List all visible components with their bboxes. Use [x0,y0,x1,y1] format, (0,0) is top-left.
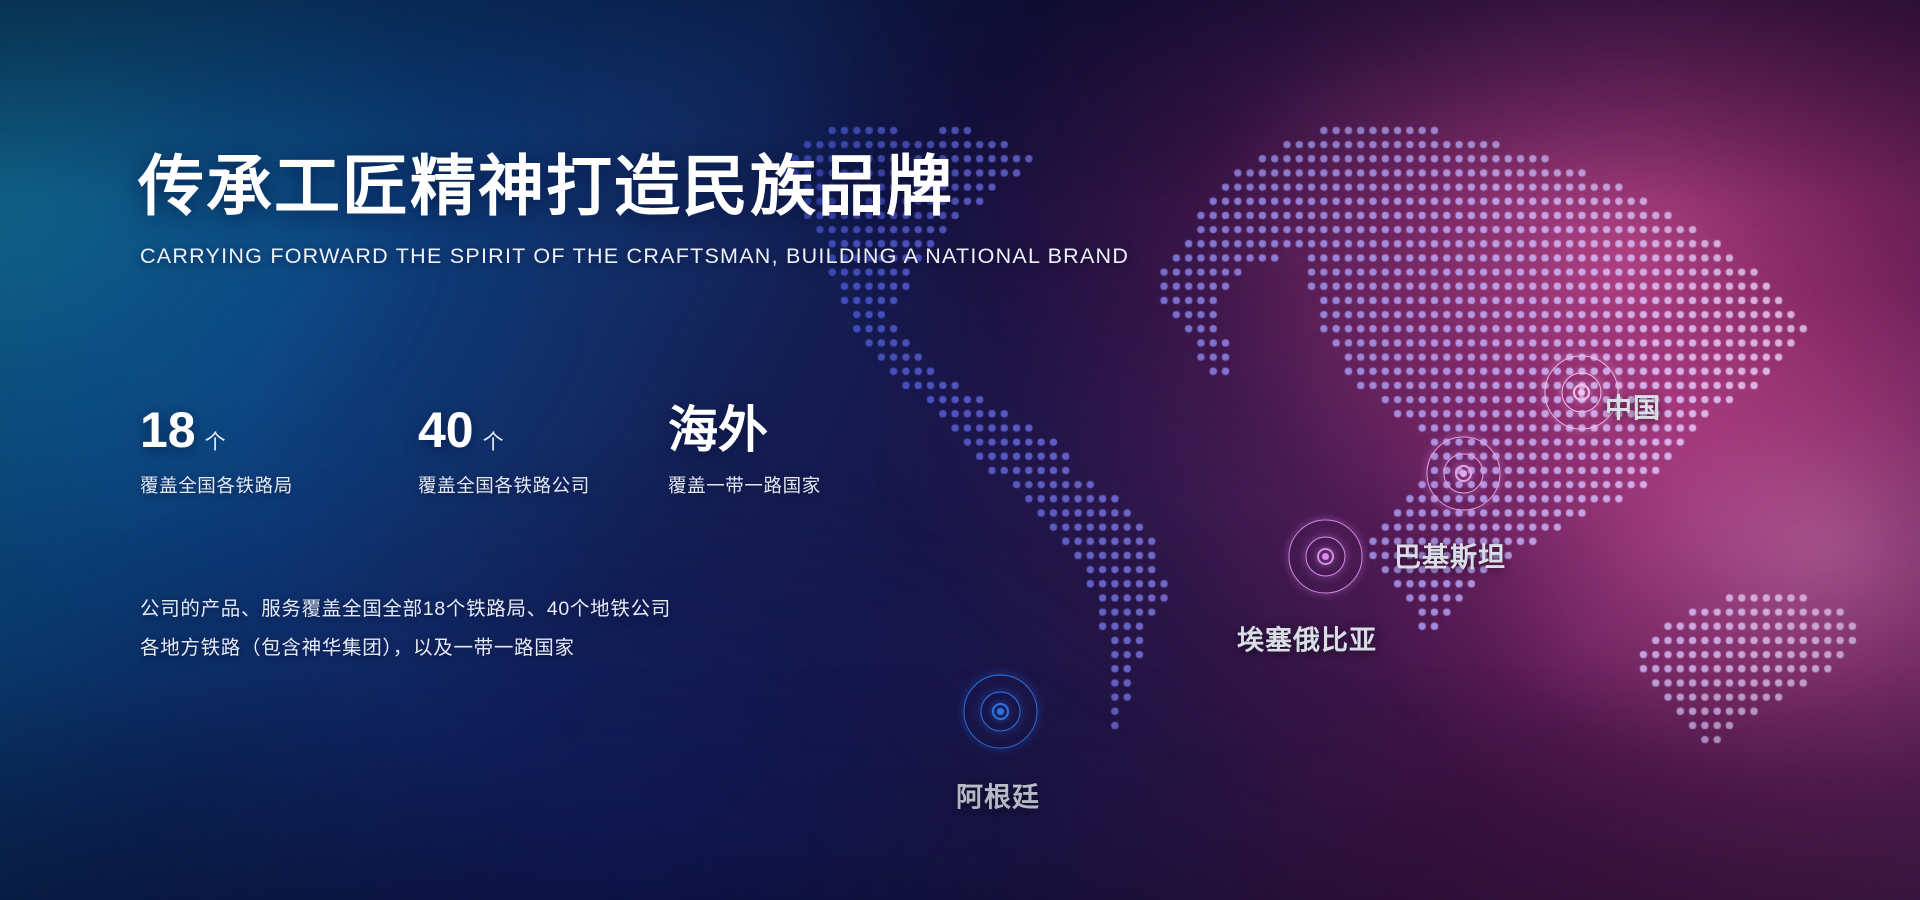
stat-number: 海外 [668,405,768,455]
page-title: 传承工匠精神打造民族品牌 [138,150,958,224]
stat-item: 18个覆盖全国各铁路局 [140,405,418,498]
headline-block: 传承工匠精神打造民族品牌 CARRYING FORWARD THE SPIRIT… [138,150,958,269]
stats-row: 18个覆盖全国各铁路局40个覆盖全国各铁路公司海外覆盖一带一路国家 [140,405,918,498]
description-block: 公司的产品、服务覆盖全国全部18个铁路局、40个地铁公司 各地方铁路（包含神华集… [140,590,671,668]
description-line-1: 公司的产品、服务覆盖全国全部18个铁路局、40个地铁公司 [140,590,671,629]
stat-item: 40个覆盖全国各铁路公司 [418,405,668,498]
stat-unit: 个 [205,426,226,456]
page-subtitle: CARRYING FORWARD THE SPIRIT OF THE CRAFT… [140,244,958,269]
stat-value-row: 海外 [668,405,918,455]
stat-value-row: 40个 [418,405,668,455]
stat-unit: 个 [483,426,504,456]
hero-banner: 中国巴基斯坦埃塞俄比亚阿根廷 传承工匠精神打造民族品牌 CARRYING FOR… [0,0,1920,900]
stat-caption: 覆盖全国各铁路局 [140,472,418,498]
stat-number: 40 [418,405,474,455]
stat-caption: 覆盖全国各铁路公司 [418,472,668,498]
stat-item: 海外覆盖一带一路国家 [668,405,918,498]
description-line-2: 各地方铁路（包含神华集团），以及一带一路国家 [140,629,671,668]
stat-number: 18 [140,405,196,455]
stat-caption: 覆盖一带一路国家 [668,472,918,498]
stat-value-row: 18个 [140,405,418,455]
